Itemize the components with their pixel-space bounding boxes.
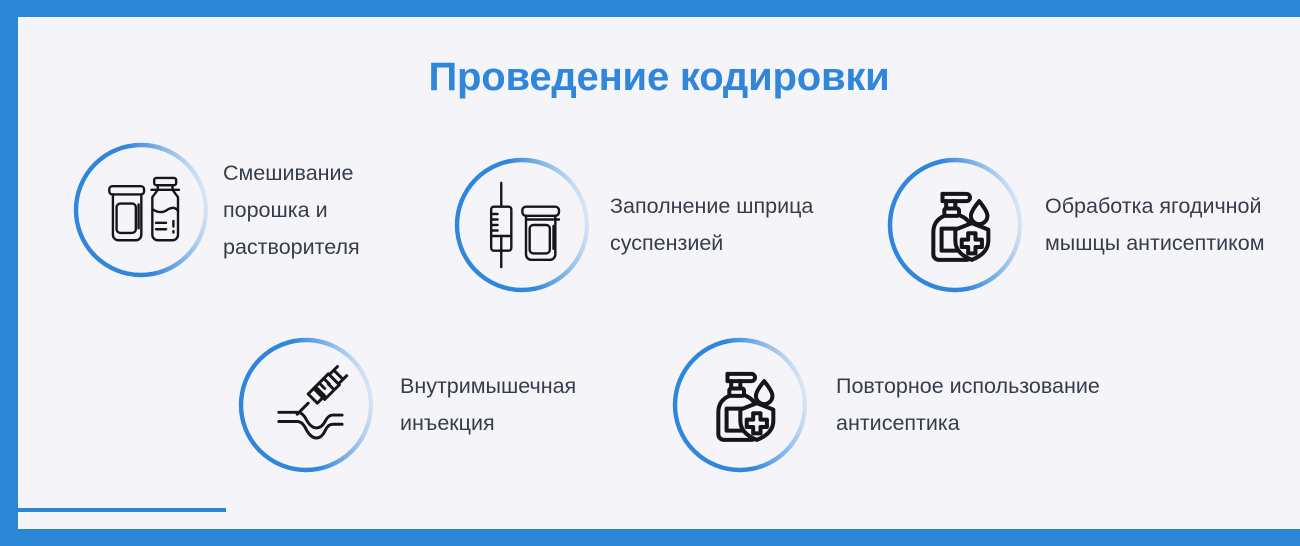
step-item-label: Заполнение шприца суспензией (610, 188, 858, 262)
page-title: Проведение кодировки (18, 55, 1300, 100)
step-icon-circle (452, 155, 592, 295)
frame-bottom-step (18, 508, 226, 512)
step-item-label: Внутримышечная инъекция (400, 368, 630, 442)
step-item-intramuscular-injection[interactable]: Внутримышечная инъекция (236, 335, 630, 475)
antiseptic-shield-icon (915, 181, 1003, 269)
step-item-label: Повторное использование антисептика (836, 368, 1156, 442)
syringe-and-vial-icon (482, 181, 570, 269)
two-vials-icon (101, 166, 189, 254)
step-item-label: Смешивание порошка и растворителя (223, 155, 393, 266)
intramuscular-injection-icon (266, 361, 354, 449)
infographic-frame: Проведение кодировки (0, 0, 1300, 546)
step-item-antiseptic-reuse[interactable]: Повторное использование антисептика (670, 335, 1156, 475)
step-item-filling-syringe[interactable]: Заполнение шприца суспензией (452, 155, 858, 295)
step-item-mixing[interactable]: Смешивание порошка и растворителя (71, 140, 393, 280)
antiseptic-shield-icon (700, 361, 788, 449)
step-item-label: Обработка ягодичной мышцы антисептиком (1045, 188, 1300, 262)
step-icon-circle (236, 335, 376, 475)
step-icon-circle (71, 140, 211, 280)
step-icon-circle (885, 155, 1025, 295)
step-icon-circle (670, 335, 810, 475)
step-item-antiseptic-gluteal[interactable]: Обработка ягодичной мышцы антисептиком (885, 155, 1300, 295)
infographic-card: Проведение кодировки (18, 17, 1300, 529)
